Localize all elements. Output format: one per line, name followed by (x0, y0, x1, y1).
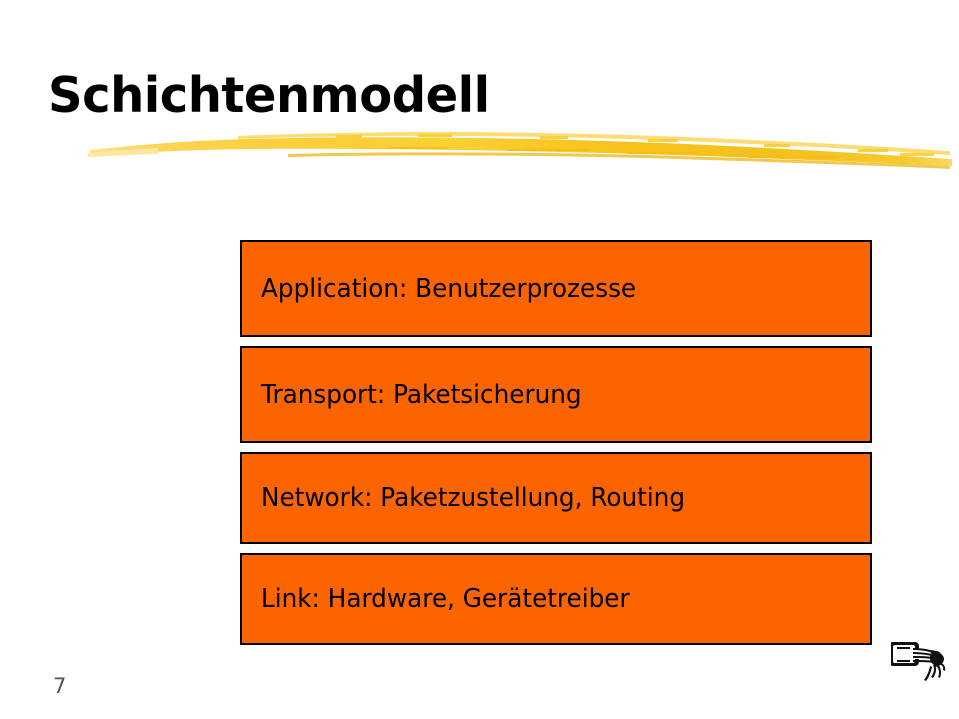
layer-label-transport: Transport: Paketsicherung (242, 380, 582, 410)
brush-stroke-underline (88, 126, 954, 172)
page-number: 7 (53, 674, 66, 698)
layer-box-link[interactable]: Link: Hardware, Gerätetreiber (240, 553, 872, 645)
slide-canvas: Schichtenmodell (0, 0, 959, 719)
layer-model-stack: Application: Benutzerprozesse Transport:… (240, 240, 872, 645)
layer-label-network: Network: Paketzustellung, Routing (242, 483, 685, 513)
layer-box-application[interactable]: Application: Benutzerprozesse (240, 240, 872, 337)
layer-label-link: Link: Hardware, Gerätetreiber (242, 584, 630, 614)
layer-label-application: Application: Benutzerprozesse (242, 274, 636, 304)
page-title: Schichtenmodell (48, 68, 490, 124)
pointing-hand-icon (891, 636, 947, 690)
layer-box-network[interactable]: Network: Paketzustellung, Routing (240, 452, 872, 544)
layer-box-transport[interactable]: Transport: Paketsicherung (240, 346, 872, 443)
